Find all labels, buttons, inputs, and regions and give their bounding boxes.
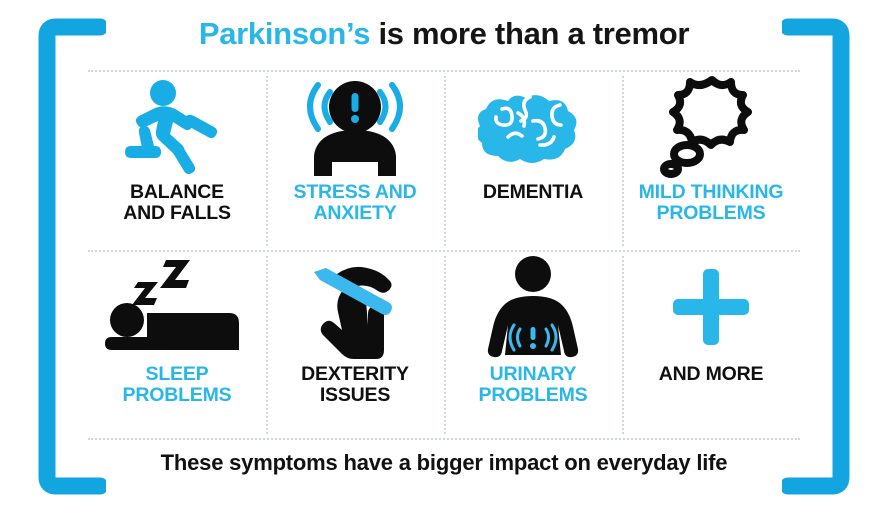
parkinsons-symptoms-infographic: Parkinson’s is more than a tremor bbox=[0, 0, 888, 512]
symptom-label: BALANCE AND FALLS bbox=[123, 182, 231, 224]
thought-bubble-icon bbox=[646, 74, 776, 178]
divider-top bbox=[88, 70, 800, 72]
symptom-label: STRESS AND ANXIETY bbox=[294, 182, 417, 224]
brain-icon bbox=[478, 74, 588, 178]
page-title: Parkinson’s is more than a tremor bbox=[110, 16, 778, 52]
symptom-label: AND MORE bbox=[659, 364, 764, 385]
title-rest: is more than a tremor bbox=[370, 16, 689, 51]
divider-middle bbox=[88, 250, 800, 252]
symptom-cell-sleep-problems[interactable]: SLEEP PROBLEMS bbox=[88, 254, 266, 436]
symptom-label: SLEEP PROBLEMS bbox=[123, 364, 232, 406]
symptom-label: DEXTERITY ISSUES bbox=[301, 364, 409, 406]
stressed-person-icon bbox=[292, 74, 418, 178]
symptom-row-top: BALANCE AND FALLS bbox=[88, 74, 800, 248]
divider-bottom bbox=[88, 438, 800, 440]
symptom-cell-balance-and-falls[interactable]: BALANCE AND FALLS bbox=[88, 74, 266, 248]
plus-icon bbox=[663, 254, 759, 360]
symptom-cell-mild-thinking-problems[interactable]: MILD THINKING PROBLEMS bbox=[622, 74, 800, 248]
symptom-cell-stress-and-anxiety[interactable]: STRESS AND ANXIETY bbox=[266, 74, 444, 248]
symptom-cell-and-more[interactable]: AND MORE bbox=[622, 254, 800, 436]
symptom-cell-dexterity-issues[interactable]: DEXTERITY ISSUES bbox=[266, 254, 444, 436]
title-accent: Parkinson’s bbox=[199, 16, 370, 51]
hand-with-pen-icon bbox=[292, 254, 418, 360]
symptom-label: MILD THINKING PROBLEMS bbox=[639, 182, 784, 224]
symptom-row-bottom: SLEEP PROBLEMS DEXTERITY ISSUES bbox=[88, 254, 800, 436]
symptom-label: URINARY PROBLEMS bbox=[479, 364, 588, 406]
sleeping-person-icon bbox=[102, 254, 252, 360]
body-bladder-icon bbox=[478, 254, 588, 360]
symptom-cell-dementia[interactable]: DEMENTIA bbox=[444, 74, 622, 248]
symptom-label: DEMENTIA bbox=[483, 182, 583, 203]
symptom-cell-urinary-problems[interactable]: URINARY PROBLEMS bbox=[444, 254, 622, 436]
footer-statement: These symptoms have a bigger impact on e… bbox=[110, 450, 778, 476]
falling-person-icon bbox=[119, 74, 235, 178]
